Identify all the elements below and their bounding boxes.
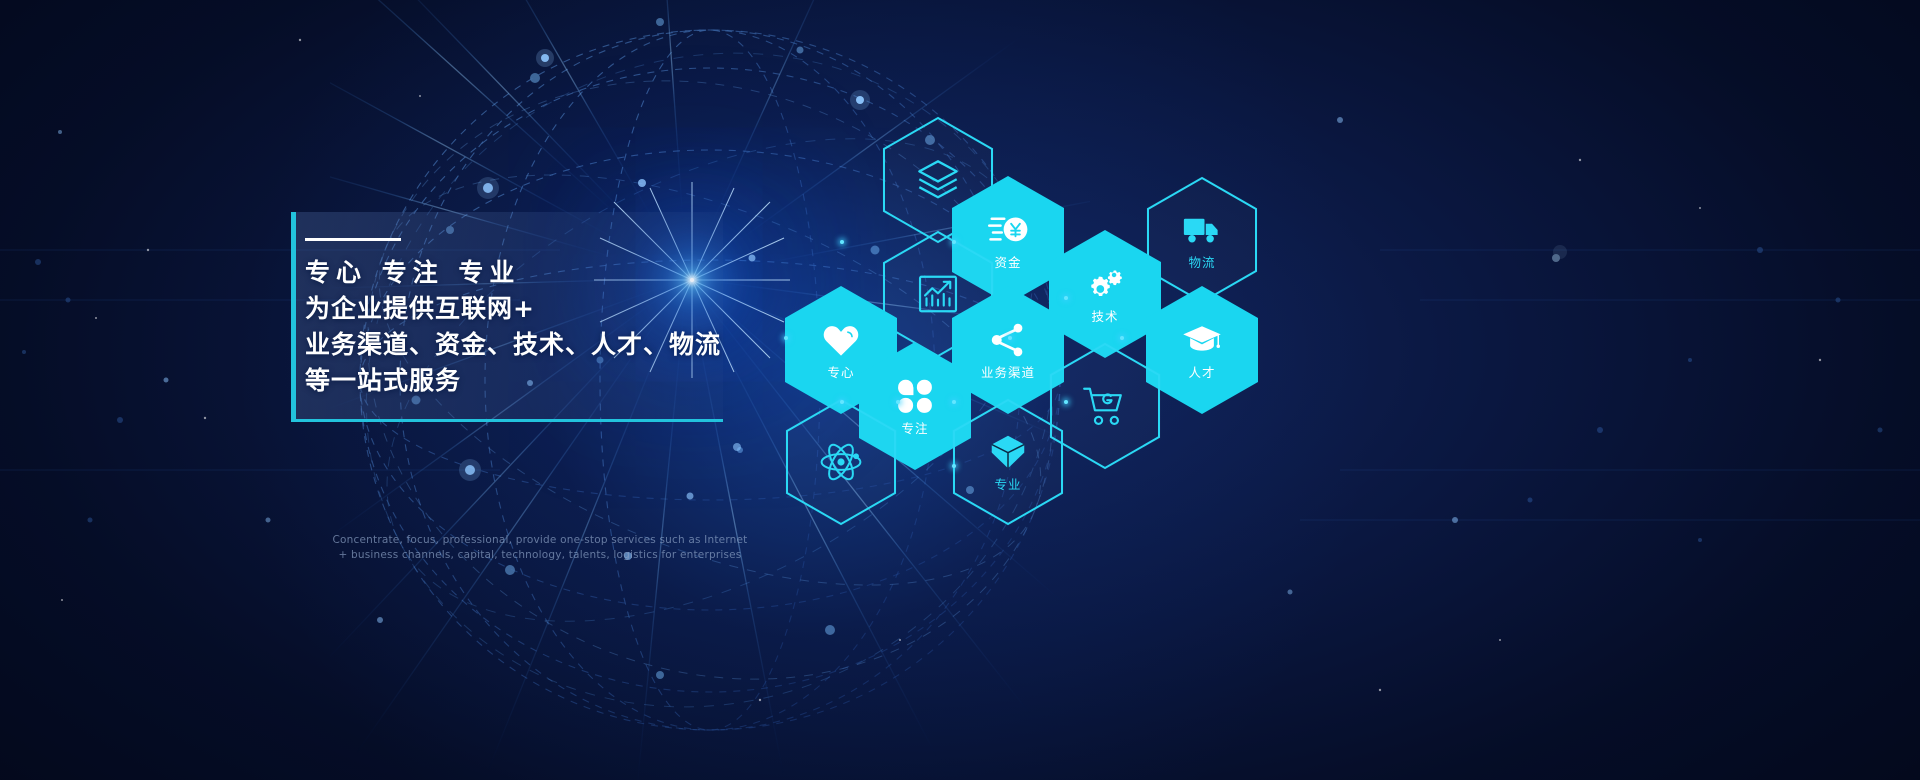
hexagon-tech[interactable]: 技术 xyxy=(1049,230,1161,358)
hexagon-talents[interactable]: 人才 xyxy=(1146,286,1258,414)
chart-growth-icon xyxy=(915,271,961,317)
layers-icon xyxy=(915,157,961,203)
hexagon-pro[interactable]: 专业 xyxy=(952,398,1064,526)
hex-vertex-node xyxy=(1064,400,1068,404)
truck-icon xyxy=(1182,210,1222,250)
headline-line-1: 专心 专注 专业 xyxy=(305,255,745,291)
graduation-cap-icon xyxy=(1182,320,1222,360)
shopping-cart-icon xyxy=(1082,383,1128,429)
hexagon-cart[interactable] xyxy=(1049,342,1161,470)
hexagon-content-dedicate: 专注 xyxy=(895,376,935,436)
hexagon-content-talents: 人才 xyxy=(1182,320,1222,380)
hex-vertex-node xyxy=(840,240,844,244)
clover-icon xyxy=(895,376,935,416)
hex-vertex-node xyxy=(840,400,844,404)
gears-icon xyxy=(1085,264,1125,304)
hexagon-content-chart xyxy=(915,271,961,317)
hex-vertex-node xyxy=(1064,296,1068,300)
share-nodes-icon xyxy=(988,320,1028,360)
hexagon-label-focus: 专心 xyxy=(827,367,854,380)
hex-vertex-node xyxy=(1008,336,1012,340)
hexagon-label-pro: 专业 xyxy=(994,479,1021,492)
money-yen-icon xyxy=(988,210,1028,250)
headline-content: 专心 专注 专业 为企业提供互联网+ 业务渠道、资金、技术、人才、物流 等一站式… xyxy=(305,212,745,399)
headline-line-3: 业务渠道、资金、技术、人才、物流 xyxy=(305,327,745,363)
banner-stage: 专心 专注 专业 为企业提供互联网+ 业务渠道、资金、技术、人才、物流 等一站式… xyxy=(0,0,1920,780)
hexagon-label-capital: 资金 xyxy=(994,257,1021,270)
hexagon-content-logistics: 物流 xyxy=(1182,210,1222,270)
diamond-icon xyxy=(988,432,1028,472)
hex-vertex-node xyxy=(1120,336,1124,340)
hex-vertex-node xyxy=(952,240,956,244)
hexagon-label-dedicate: 专注 xyxy=(901,423,928,436)
hexagon-content-capital: 资金 xyxy=(988,210,1028,270)
hexagon-content-atom xyxy=(818,439,864,485)
headline-lines: 专心 专注 专业 为企业提供互联网+ 业务渠道、资金、技术、人才、物流 等一站式… xyxy=(305,255,745,399)
hexagon-label-tech: 技术 xyxy=(1091,311,1118,324)
hex-vertex-node xyxy=(896,400,900,404)
hex-vertex-node xyxy=(784,336,788,340)
hexagon-content-tech: 技术 xyxy=(1085,264,1125,324)
english-caption: Concentrate, focus, professional, provid… xyxy=(330,533,750,563)
hexagon-content-channels: 业务渠道 xyxy=(981,320,1035,380)
heart-icon xyxy=(821,320,861,360)
headline-rule xyxy=(305,238,401,241)
headline-line-4: 等一站式服务 xyxy=(305,363,745,399)
hexagon-label-logistics: 物流 xyxy=(1188,257,1215,270)
hexagon-label-channels: 业务渠道 xyxy=(981,367,1035,380)
hex-vertex-node xyxy=(952,464,956,468)
headline-line-2: 为企业提供互联网+ xyxy=(305,291,745,327)
hexagon-atom[interactable] xyxy=(785,398,897,526)
hexagon-content-focus: 专心 xyxy=(821,320,861,380)
hexagon-cluster: 资金物流技术专心业务渠道人才专注专业 xyxy=(740,100,1300,550)
hexagon-content-layers xyxy=(915,157,961,203)
hexagon-content-cart xyxy=(1082,383,1128,429)
hexagon-label-talents: 人才 xyxy=(1188,367,1215,380)
hex-vertex-node xyxy=(952,400,956,404)
hexagon-content-pro: 专业 xyxy=(988,432,1028,492)
hexagon-logistics[interactable]: 物流 xyxy=(1146,176,1258,304)
atom-icon xyxy=(818,439,864,485)
